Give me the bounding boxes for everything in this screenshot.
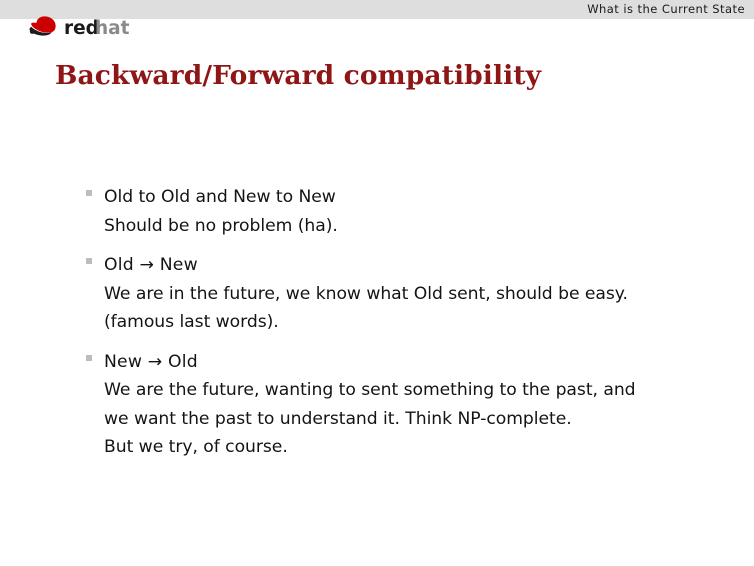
square-bullet-icon bbox=[86, 190, 92, 196]
bullet-line: New → Old bbox=[104, 348, 726, 377]
bullet-line: we want the past to understand it. Think… bbox=[104, 405, 726, 434]
square-bullet-icon bbox=[86, 258, 92, 264]
bullet-list: Old to Old and New to New Should be no p… bbox=[86, 183, 726, 462]
list-item: Old to Old and New to New Should be no p… bbox=[86, 183, 726, 240]
header-section-title: What is the Current State bbox=[587, 1, 745, 18]
bullet-line: Old → New bbox=[104, 251, 726, 280]
bullet-line: But we try, of course. bbox=[104, 433, 726, 462]
bullet-line: Should be no problem (ha). bbox=[104, 212, 726, 241]
square-bullet-icon bbox=[86, 355, 92, 361]
slide-canvas: What is the Current State red hat Backwa… bbox=[0, 0, 754, 566]
bullet-line: We are in the future, we know what Old s… bbox=[104, 280, 726, 309]
slide-title: Backward/Forward compatibility bbox=[55, 60, 541, 91]
logo-wordmark-hat: hat bbox=[95, 18, 130, 39]
redhat-logo: red hat bbox=[20, 11, 150, 39]
bullet-line: We are the future, wanting to sent somet… bbox=[104, 376, 726, 405]
list-item: Old → New We are in the future, we know … bbox=[86, 251, 726, 337]
list-item: New → Old We are the future, wanting to … bbox=[86, 348, 726, 462]
bullet-line: Old to Old and New to New bbox=[104, 183, 726, 212]
bullet-line: (famous last words). bbox=[104, 308, 726, 337]
redhat-shadowman-icon: red hat bbox=[20, 11, 150, 39]
logo-wordmark-red: red bbox=[64, 18, 99, 39]
